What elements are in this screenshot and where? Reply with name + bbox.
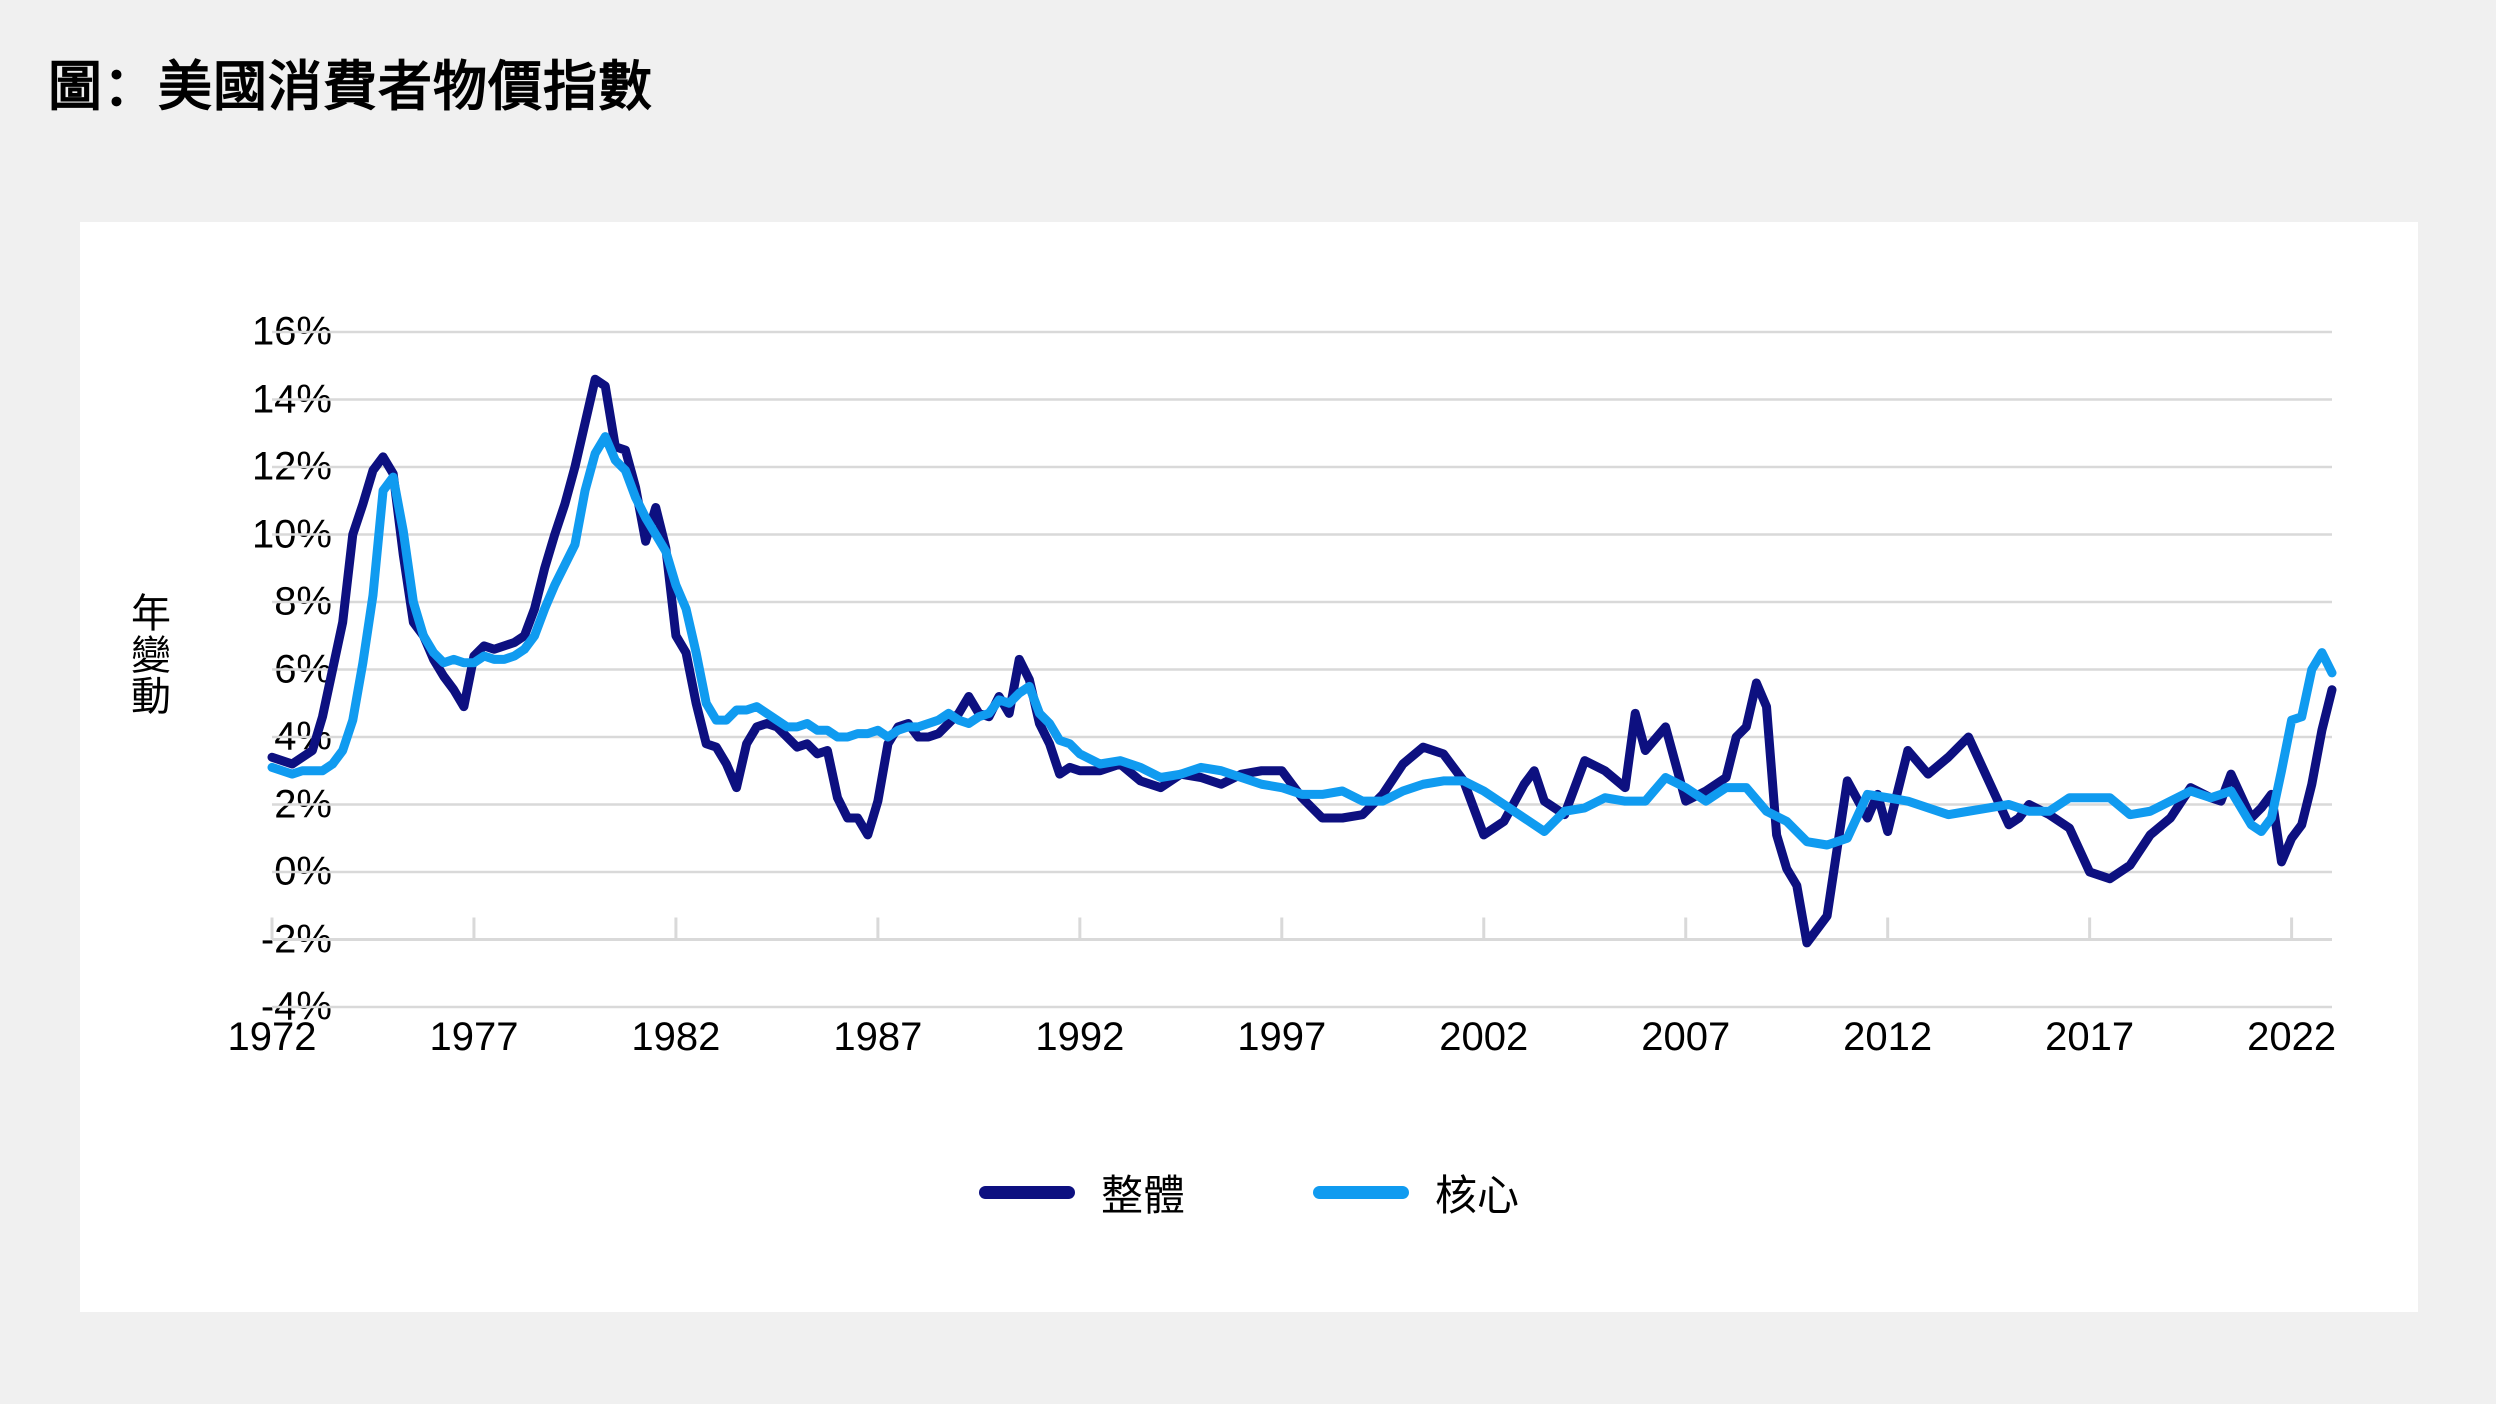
chart-legend: 整體核心 xyxy=(80,1162,2418,1223)
x-axis-tick-label: 1982 xyxy=(631,1015,720,1060)
x-axis-tick-label: 1987 xyxy=(833,1015,922,1060)
series-line xyxy=(272,379,2332,943)
x-axis-tick-label: 2002 xyxy=(1439,1015,1528,1060)
chart-svg xyxy=(272,332,2332,1007)
legend-swatch-icon xyxy=(1313,1186,1409,1199)
x-axis-tick-label: 2022 xyxy=(2247,1015,2336,1060)
plot-area xyxy=(272,332,2332,1007)
chart-card: 年變動 16%14%12%10%8%6%4%2%0%-2%-4% 1972197… xyxy=(80,222,2418,1312)
legend-swatch-icon xyxy=(979,1186,1075,1199)
page-title: 圖：美國消費者物價指數 xyxy=(48,58,653,117)
chart-page: 圖：美國消費者物價指數 年變動 16%14%12%10%8%6%4%2%0%-2… xyxy=(0,0,2496,1404)
legend-label: 核心 xyxy=(1435,1162,1519,1223)
x-axis-tick-label: 1972 xyxy=(228,1015,317,1060)
x-axis-tick-label: 1997 xyxy=(1237,1015,1326,1060)
legend-item[interactable]: 整體 xyxy=(979,1162,1185,1223)
x-axis-ticks xyxy=(272,918,2332,940)
x-axis-tick-label: 2017 xyxy=(2045,1015,2134,1060)
x-axis-tick-label: 1977 xyxy=(429,1015,518,1060)
series-lines xyxy=(272,379,2332,943)
x-axis-tick-labels: 1972197719821987199219972002200720122017… xyxy=(272,1015,2332,1075)
y-axis-title: 年變動 xyxy=(128,594,174,719)
legend-item[interactable]: 核心 xyxy=(1313,1162,1519,1223)
x-axis-tick-label: 2012 xyxy=(1843,1015,1932,1060)
x-axis-tick-label: 2007 xyxy=(1641,1015,1730,1060)
x-axis-tick-label: 1992 xyxy=(1035,1015,1124,1060)
series-line xyxy=(272,437,2332,845)
legend-label: 整體 xyxy=(1101,1162,1185,1223)
